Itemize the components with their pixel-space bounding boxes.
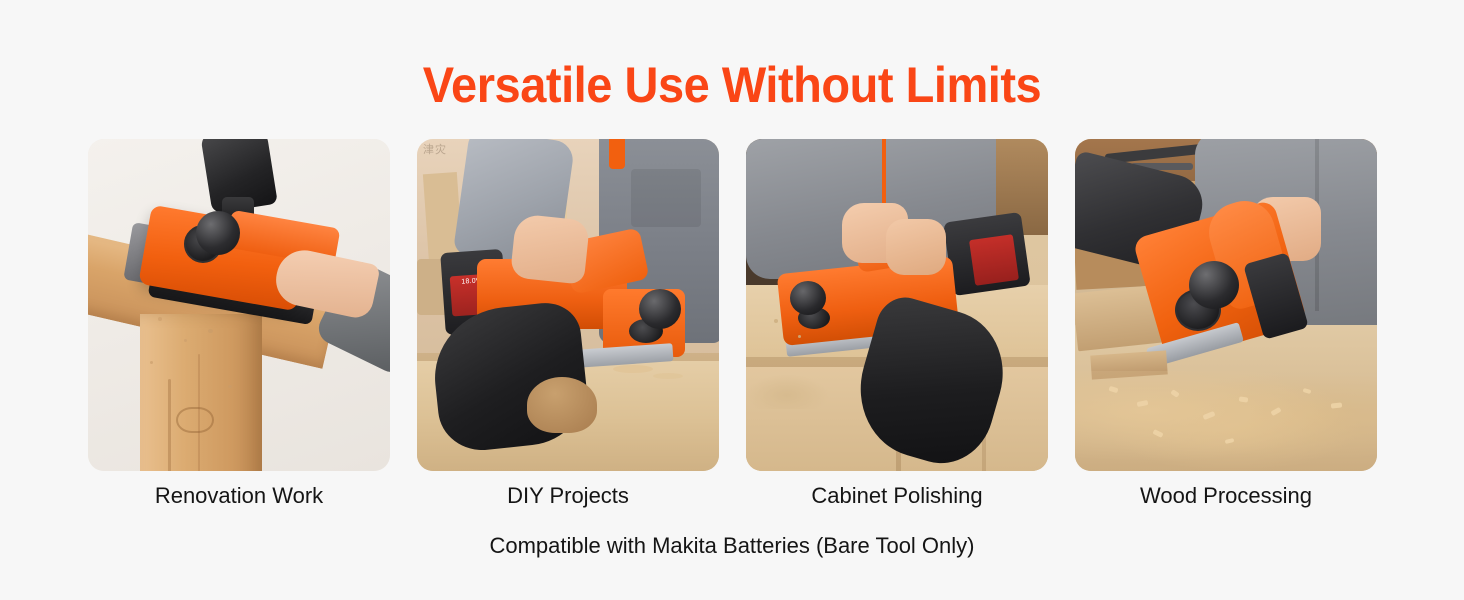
caption-row: Renovation Work DIY Projects Cabinet Pol…	[88, 481, 1376, 511]
sawdust-speck	[774, 319, 778, 323]
scene-renovation-work	[88, 139, 390, 471]
battery-label	[969, 234, 1019, 286]
sawdust-speck	[798, 335, 801, 338]
gallery-image-renovation-work	[88, 139, 390, 471]
wood-shaving	[653, 373, 683, 379]
jacket-orange-trim	[882, 139, 886, 203]
sawdust-speck	[158, 317, 162, 321]
wood-grain-line	[168, 379, 171, 471]
depth-adjust-knob	[196, 211, 240, 255]
sawdust-speck	[208, 329, 213, 333]
gallery-image-diy-projects: 18.0V 津灾	[417, 139, 719, 471]
wood-shavings-pile	[1075, 371, 1377, 471]
scene-cabinet-polishing	[746, 139, 1048, 471]
promo-banner: Versatile Use Without Limits	[0, 0, 1464, 600]
turned-wood-piece	[527, 377, 597, 433]
depth-adjust-knob	[639, 289, 681, 329]
scene-diy-projects: 18.0V 津灾	[417, 139, 719, 471]
worker-hand	[886, 219, 946, 275]
wood-knot	[176, 407, 214, 433]
caption-wood-processing: Wood Processing	[1075, 481, 1377, 511]
compatibility-note: Compatible with Makita Batteries (Bare T…	[0, 531, 1464, 561]
wood-post-vertical	[140, 314, 262, 471]
sawdust-pile	[746, 375, 828, 409]
scene-wood-processing	[1075, 139, 1377, 471]
image-gallery: 18.0V 津灾	[88, 139, 1376, 471]
page-title: Versatile Use Without Limits	[44, 54, 1420, 116]
sawdust-speck	[150, 361, 153, 364]
gallery-image-cabinet-polishing	[746, 139, 1048, 471]
caption-diy-projects: DIY Projects	[417, 481, 719, 511]
worker-hand	[510, 213, 590, 284]
sawdust-speck	[228, 385, 232, 388]
caption-renovation-work: Renovation Work	[88, 481, 390, 511]
gallery-image-wood-processing	[1075, 139, 1377, 471]
apron-strap	[609, 139, 625, 169]
sawdust-speck	[184, 339, 187, 342]
wood-chip	[1239, 396, 1249, 402]
wood-shaving	[613, 365, 653, 373]
caption-cabinet-polishing: Cabinet Polishing	[746, 481, 1048, 511]
depth-adjust-knob	[1189, 261, 1239, 309]
apron-pocket	[631, 169, 701, 227]
image-watermark: 津灾	[423, 141, 447, 157]
depth-adjust-knob	[790, 281, 826, 315]
